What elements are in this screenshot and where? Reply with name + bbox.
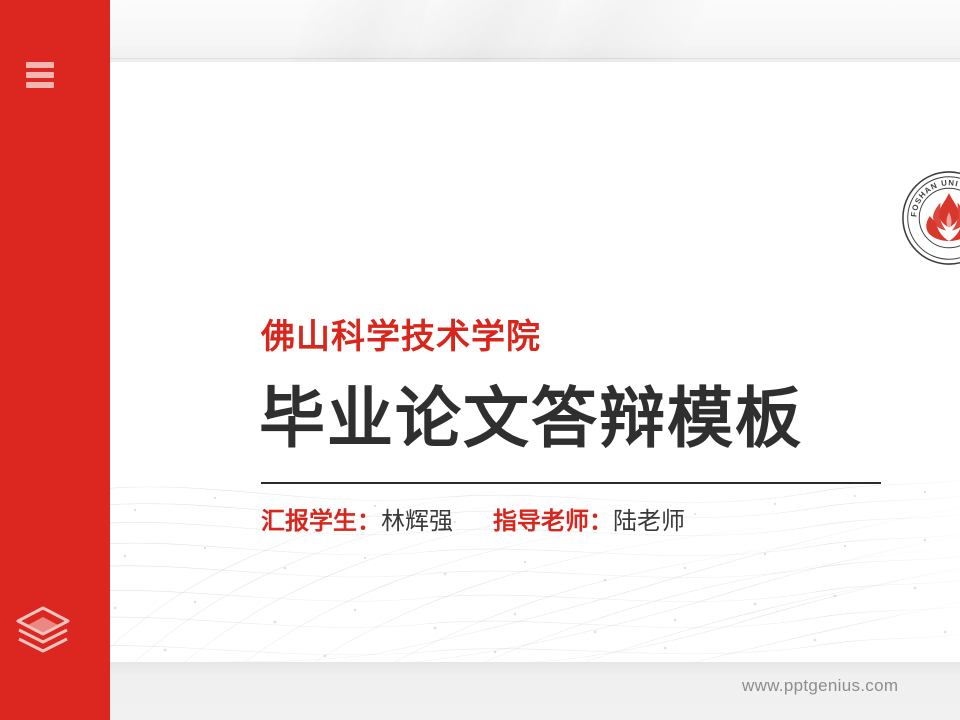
header-hairline (0, 58, 960, 59)
layers-icon[interactable] (14, 604, 72, 656)
organization-name: 佛山科学技术学院 (261, 320, 541, 354)
presenter-advisor-line: 汇报学生：林辉强指导老师：陆老师 (261, 508, 685, 537)
hamburger-bar-1 (26, 62, 54, 68)
page-title: 毕业论文答辩模板 (259, 384, 803, 453)
flame-lotus-emblem (926, 193, 960, 241)
hamburger-bar-2 (26, 72, 54, 78)
foshan-university-seal: FOSHAN UNIVERSITY (901, 170, 960, 266)
presenter-label: 汇报学生： (261, 508, 381, 535)
hamburger-icon[interactable] (26, 62, 54, 88)
header-background (0, 0, 960, 62)
presentation-slide: FOSHAN UNIVERSITY 佛山科学技术学院 毕业论文答辩模板 汇报学生… (0, 0, 960, 720)
slide-card: FOSHAN UNIVERSITY 佛山科学技术学院 毕业论文答辩模板 汇报学生… (75, 62, 960, 662)
advisor-name: 陆老师 (613, 508, 685, 535)
title-divider (261, 482, 881, 484)
left-sidebar (0, 0, 110, 720)
watermark-url: www.pptgenius.com (742, 676, 898, 696)
hamburger-bar-3 (26, 82, 54, 88)
advisor-label: 指导老师： (493, 508, 613, 535)
presenter-name: 林辉强 (381, 508, 453, 535)
